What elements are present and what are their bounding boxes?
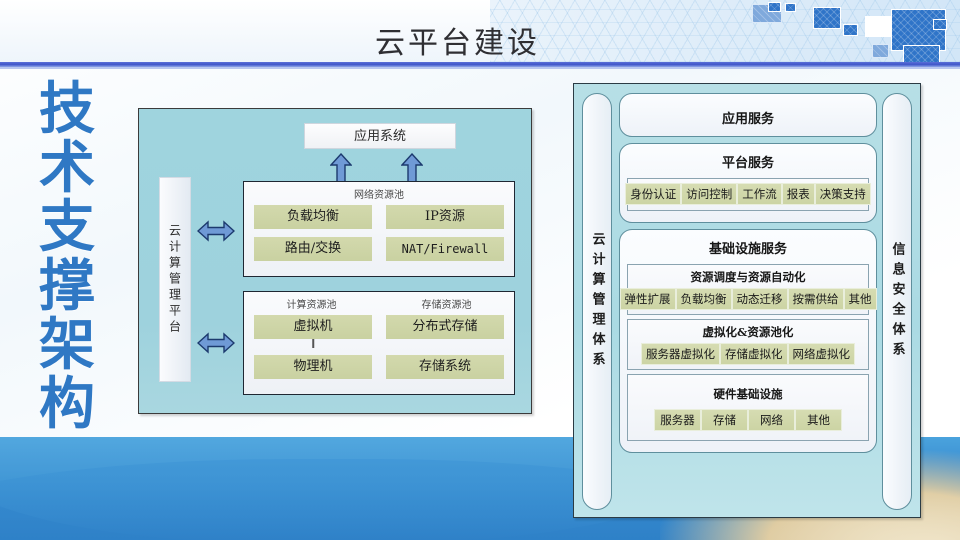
arrow-up-icon [401,153,423,183]
application-service-title: 应用服务 [627,99,869,131]
platform-service-title: 平台服务 [627,149,869,175]
tag-workflow: 工作流 [737,183,782,205]
information-security-system-text: 信息安全体系 [888,242,907,362]
headline-char: 撑 [26,257,108,316]
resource-scheduling-tags: 弹性扩展 负载均衡 动态迁移 按需供给 其他 [632,288,864,310]
arrow-left-right-icon [197,331,235,355]
platform-service-tags: 身份认证 访问控制 工作流 报表 决策支持 [633,183,863,205]
decor-square-icon [768,2,781,12]
cloud-management-platform-text: 云计算管理平台 [167,224,184,336]
resource-scheduling-title: 资源调度与资源自动化 [632,268,864,288]
chip-nat-firewall: NAT/Firewall [386,237,504,261]
tag-report: 报表 [782,183,815,205]
vertical-headline: 技 术 支 撑 架 构 [26,80,108,434]
arrow-left-right-icon [197,219,235,243]
tag-storage: 存储 [701,409,748,431]
hardware-infrastructure-group: 硬件基础设施 服务器 存储 网络 其他 [627,374,869,441]
tag-on-demand-supply: 按需供给 [788,288,844,310]
tag-load-balancing: 负载均衡 [676,288,732,310]
tag-access-control: 访问控制 [681,183,737,205]
page-title: 云平台建设 [375,18,540,62]
headline-char: 支 [26,198,108,257]
chip-distributed-storage: 分布式存储 [386,315,504,339]
chip-virtual-machine: 虚拟机 [254,315,372,339]
title-divider-shadow [0,67,960,69]
information-security-system-label: 信息安全体系 [882,93,912,510]
tag-dynamic-migration: 动态迁移 [732,288,788,310]
application-service-card: 应用服务 [619,93,877,137]
chip-load-balancer: 负载均衡 [254,205,372,229]
left-architecture-diagram: 应用系统 云计算管理平台 网络资源池 负载均衡 路由/交换 [138,108,532,414]
headline-char: 架 [26,316,108,375]
application-system-box: 应用系统 [304,123,456,149]
hardware-infrastructure-title: 硬件基础设施 [632,378,864,409]
chip-routing-switching: 路由/交换 [254,237,372,261]
virtualization-tags: 服务器虚拟化 存储虚拟化 网络虚拟化 [632,343,864,365]
decor-square-icon [785,3,796,12]
tag-identity-auth: 身份认证 [625,183,681,205]
chip-storage-system: 存储系统 [386,355,504,379]
resource-scheduling-group: 资源调度与资源自动化 弹性扩展 负载均衡 动态迁移 按需供给 其他 [627,264,869,315]
virtualization-group: 虚拟化&资源池化 服务器虚拟化 存储虚拟化 网络虚拟化 [627,319,869,370]
headline-char: 技 [26,80,108,139]
headline-char: 构 [26,375,108,434]
network-resource-pool: 网络资源池 负载均衡 路由/交换 IP资源 NAT/Firewall [243,181,515,277]
infrastructure-service-card: 基础设施服务 资源调度与资源自动化 弹性扩展 负载均衡 动态迁移 按需供给 其他… [619,229,877,453]
chip-ip-resource: IP资源 [386,205,504,229]
hardware-infrastructure-tags: 服务器 存储 网络 其他 [632,409,864,431]
compute-resource-pool-header: 计算资源池 [244,292,379,311]
cloud-management-system-text: 云计算管理体系 [588,232,607,372]
tag-network: 网络 [748,409,795,431]
storage-resource-pool-header: 存储资源池 [379,292,514,311]
platform-service-tag-panel: 身份认证 访问控制 工作流 报表 决策支持 [627,178,869,211]
tag-network-virtualization: 网络虚拟化 [788,343,856,365]
compute-storage-resource-pool: 计算资源池 存储资源池 虚拟机 物理机 分布式存储 存储系统 [243,291,515,395]
decor-square-icon [843,24,858,36]
infrastructure-service-title: 基础设施服务 [627,235,869,261]
tag-other: 其他 [795,409,842,431]
virtualization-title: 虚拟化&资源池化 [632,323,864,343]
vm-physical-connector [254,339,372,348]
tag-decision-support: 决策支持 [815,183,871,205]
network-resource-pool-header: 网络资源池 [244,182,514,201]
tag-storage-virtualization: 存储虚拟化 [720,343,788,365]
tag-other: 其他 [844,288,877,310]
right-architecture-diagram: 云计算管理体系 信息安全体系 应用服务 平台服务 身份认证 访问控制 工作流 报… [573,83,921,518]
tag-elastic-scaling: 弹性扩展 [620,288,676,310]
chip-physical-machine: 物理机 [254,355,372,379]
cloud-management-system-label: 云计算管理体系 [582,93,612,510]
decor-square-icon [872,44,889,58]
cloud-management-platform-label: 云计算管理平台 [159,177,191,382]
arrow-up-icon [330,153,352,183]
decor-square-icon [933,19,947,30]
slide-canvas: 云平台建设 技 术 支 撑 架 构 应用系统 云计算管理平台 [0,0,960,540]
platform-service-card: 平台服务 身份认证 访问控制 工作流 报表 决策支持 [619,143,877,223]
tag-server-virtualization: 服务器虚拟化 [641,343,720,365]
tag-server: 服务器 [654,409,701,431]
decor-square-icon [813,7,841,29]
service-stack-column: 应用服务 平台服务 身份认证 访问控制 工作流 报表 决策支持 基础设施服务 [619,93,877,459]
headline-char: 术 [26,139,108,198]
